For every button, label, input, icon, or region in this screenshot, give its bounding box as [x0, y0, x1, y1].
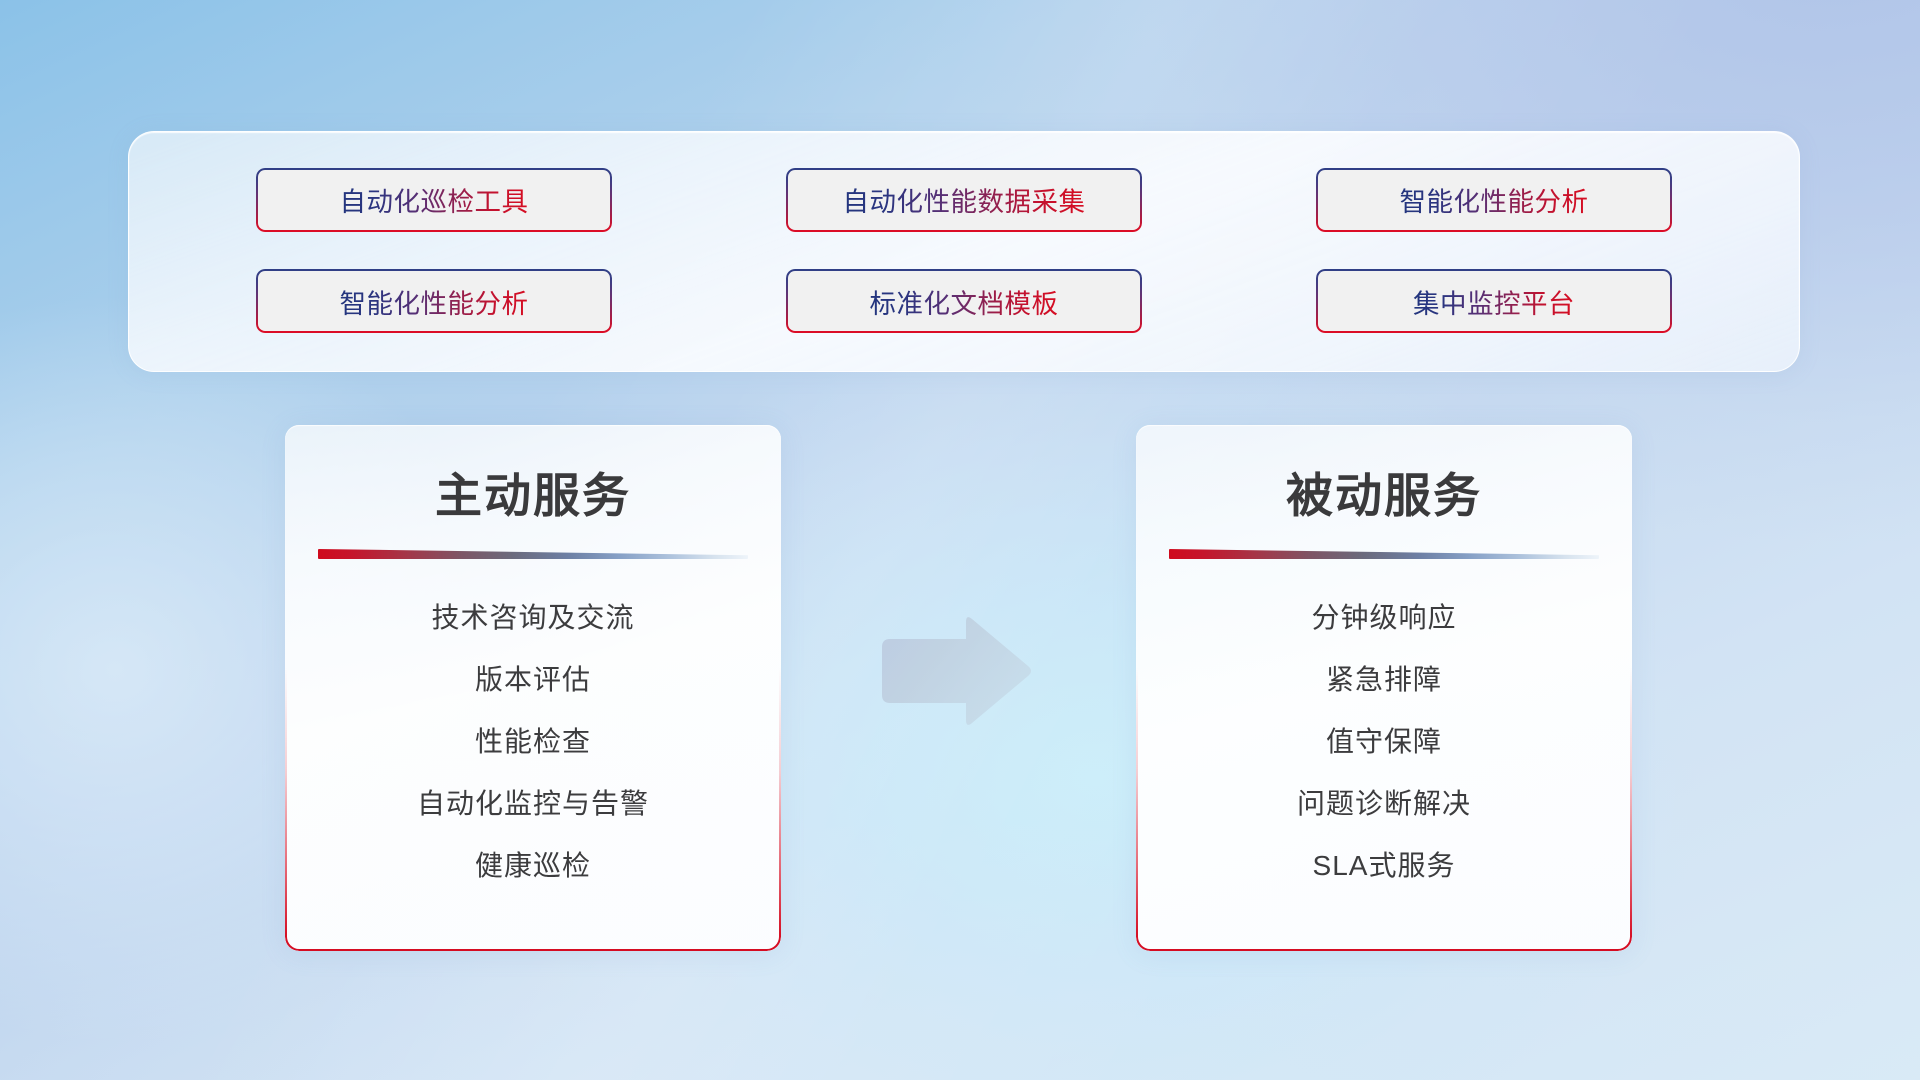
service-card-title: 被动服务 — [1136, 457, 1632, 526]
service-item: 值守保障 — [1136, 711, 1632, 773]
capability-tag-5[interactable]: 标准化文档模板 — [786, 269, 1142, 333]
service-card-title: 主动服务 — [285, 457, 781, 526]
service-item: 分钟级响应 — [1136, 587, 1632, 649]
title-divider — [318, 549, 748, 559]
capability-tag-label: 自动化巡检工具 — [340, 180, 529, 219]
service-item: 紧急排障 — [1136, 649, 1632, 711]
service-item: 版本评估 — [285, 649, 781, 711]
service-item: 性能检查 — [285, 711, 781, 773]
title-divider — [1169, 549, 1599, 559]
service-item-list: 技术咨询及交流 版本评估 性能检查 自动化监控与告警 健康巡检 — [285, 587, 781, 897]
service-card-proactive[interactable]: 主动服务 技术咨询及交流 版本评估 性能检查 自动化监控与告警 健康巡检 — [285, 425, 781, 951]
capability-tag-4[interactable]: 智能化性能分析 — [256, 269, 612, 333]
slide-canvas: 自动化巡检工具 自动化性能数据采集 智能化性能分析 智能化性能分析 标准化文档模… — [0, 0, 1920, 1080]
capability-tag-label: 自动化性能数据采集 — [843, 180, 1086, 219]
capability-tag-label: 智能化性能分析 — [1400, 180, 1589, 219]
service-item: 问题诊断解决 — [1136, 773, 1632, 835]
capability-tags-panel: 自动化巡检工具 自动化性能数据采集 智能化性能分析 智能化性能分析 标准化文档模… — [128, 131, 1800, 372]
service-item-list: 分钟级响应 紧急排障 值守保障 问题诊断解决 SLA式服务 — [1136, 587, 1632, 897]
capability-tag-label: 智能化性能分析 — [340, 282, 529, 321]
arrow-right-icon — [874, 614, 1034, 730]
capability-tag-3[interactable]: 智能化性能分析 — [1316, 168, 1672, 232]
service-item: 技术咨询及交流 — [285, 587, 781, 649]
capability-tag-6[interactable]: 集中监控平台 — [1316, 269, 1672, 333]
service-item: 健康巡检 — [285, 835, 781, 897]
capability-tag-label: 标准化文档模板 — [870, 282, 1059, 321]
capability-tag-1[interactable]: 自动化巡检工具 — [256, 168, 612, 232]
capability-tag-2[interactable]: 自动化性能数据采集 — [786, 168, 1142, 232]
capability-tag-label: 集中监控平台 — [1413, 282, 1575, 321]
service-item: SLA式服务 — [1136, 835, 1632, 897]
service-item: 自动化监控与告警 — [285, 773, 781, 835]
service-card-reactive[interactable]: 被动服务 分钟级响应 紧急排障 值守保障 问题诊断解决 SLA式服务 — [1136, 425, 1632, 951]
